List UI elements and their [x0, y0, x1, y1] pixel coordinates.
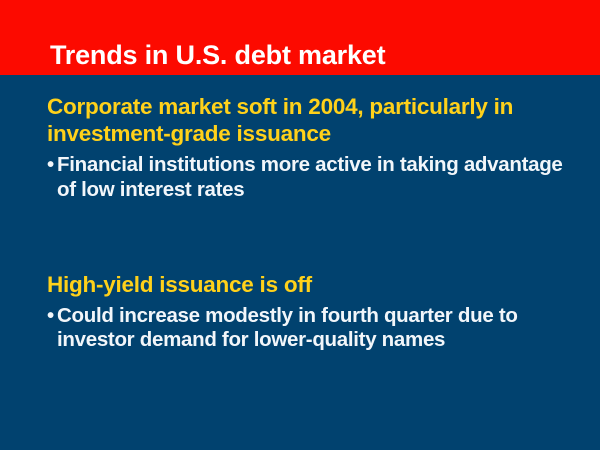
bullet-list: • Could increase modestly in fourth quar…: [47, 304, 567, 353]
section-heading: Corporate market soft in 2004, particula…: [47, 94, 567, 147]
list-item-label: Financial institutions more active in ta…: [57, 153, 563, 201]
list-item: • Could increase modestly in fourth quar…: [47, 304, 567, 353]
slide-body: Corporate market soft in 2004, particula…: [0, 75, 600, 450]
title-band: Trends in U.S. debt market: [0, 0, 600, 75]
list-item-label: Could increase modestly in fourth quarte…: [57, 304, 518, 352]
slide-canvas: Trends in U.S. debt market Corporate mar…: [0, 0, 600, 450]
bullet-list: • Financial institutions more active in …: [47, 153, 567, 202]
page-title: Trends in U.S. debt market: [50, 40, 385, 71]
list-item: • Financial institutions more active in …: [47, 153, 567, 202]
bullet-dot-icon: •: [47, 304, 54, 329]
content-section-high-yield: High-yield issuance is off • Could incre…: [47, 272, 567, 353]
bullet-dot-icon: •: [47, 153, 54, 178]
section-heading: High-yield issuance is off: [47, 272, 567, 299]
content-section-corporate-market: Corporate market soft in 2004, particula…: [47, 94, 567, 202]
